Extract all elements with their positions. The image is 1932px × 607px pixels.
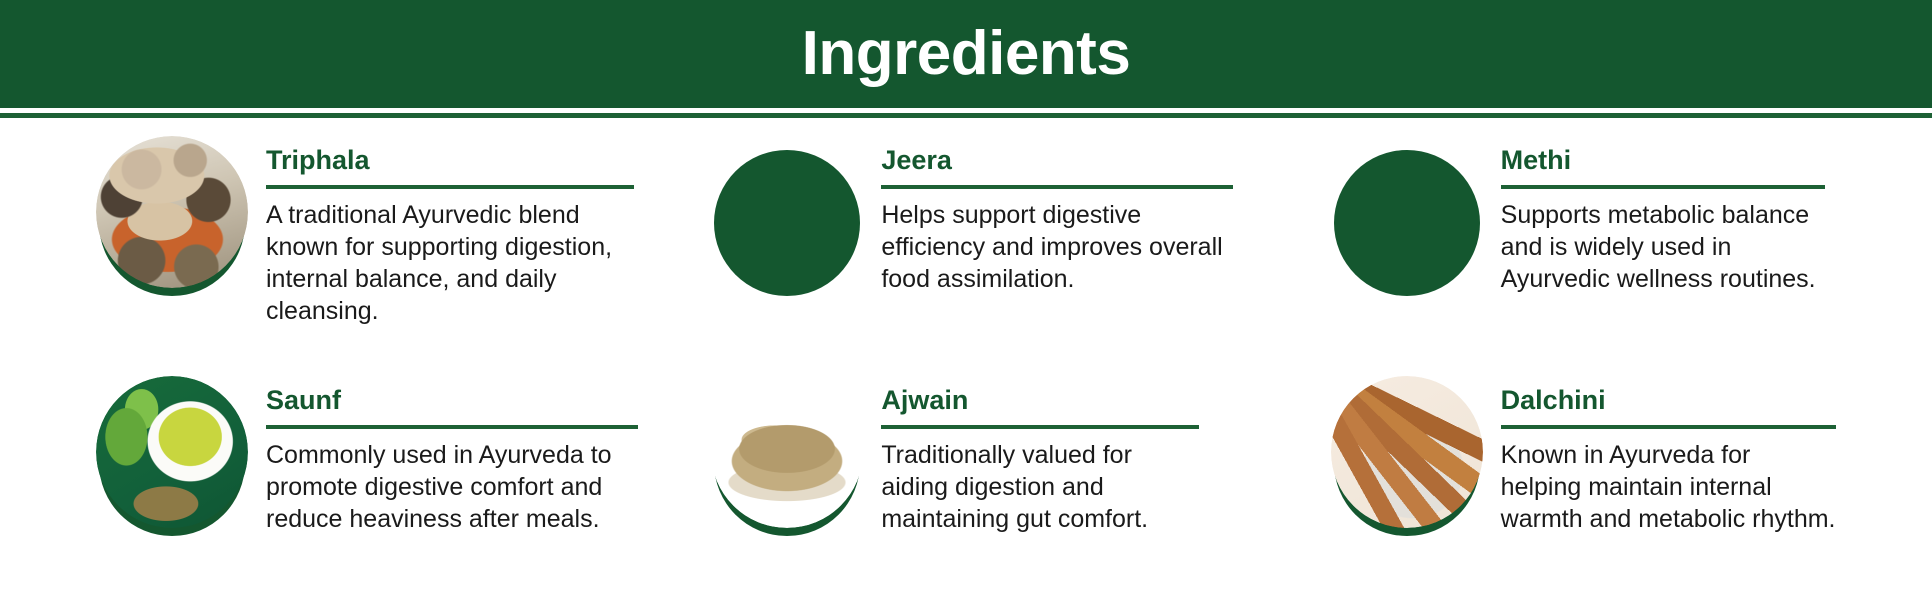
ingredient-name: Saunf xyxy=(266,386,638,416)
ingredient-card-methi: Methi Supports metabolic balance and is … xyxy=(1275,128,1836,358)
thumb-image-frame xyxy=(96,136,248,288)
ingredient-description: A traditional Ayurvedic blend known for … xyxy=(266,199,634,328)
ingredient-text-ajwain: Ajwain Traditionally valued for aiding d… xyxy=(881,368,1199,535)
page-title: Ingredients xyxy=(802,23,1131,85)
ingredient-thumb-methi xyxy=(1331,136,1483,288)
saunf-image xyxy=(96,376,248,528)
ingredient-card-jeera: Jeera Helps support digestive efficiency… xyxy=(685,128,1246,358)
ingredient-name: Methi xyxy=(1501,146,1825,176)
ingredient-text-methi: Methi Supports metabolic balance and is … xyxy=(1501,128,1825,295)
ingredient-thumb-saunf xyxy=(96,376,248,528)
ingredient-thumb-ajwain xyxy=(711,376,863,528)
ingredient-description: Supports metabolic balance and is widely… xyxy=(1501,199,1825,296)
jeera-image xyxy=(711,136,863,288)
thumb-image-frame xyxy=(711,376,863,528)
ingredient-description: Commonly used in Ayurveda to promote dig… xyxy=(266,439,638,536)
ingredient-thumb-triphala xyxy=(96,136,248,288)
page-header: Ingredients xyxy=(0,0,1932,108)
ingredient-text-jeera: Jeera Helps support digestive efficiency… xyxy=(881,128,1233,295)
thumb-image-frame xyxy=(1331,136,1483,288)
title-underline xyxy=(1501,425,1836,429)
title-underline xyxy=(1501,185,1825,189)
ingredient-name: Jeera xyxy=(881,146,1233,176)
thumb-image-frame xyxy=(1331,376,1483,528)
ajwain-image xyxy=(711,376,863,528)
ingredient-description: Helps support digestive efficiency and i… xyxy=(881,199,1233,296)
ingredient-description: Traditionally valued for aiding digestio… xyxy=(881,439,1199,536)
ingredient-text-saunf: Saunf Commonly used in Ayurveda to promo… xyxy=(266,368,638,535)
ingredient-name: Dalchini xyxy=(1501,386,1836,416)
triphala-image xyxy=(96,136,248,288)
ingredient-text-triphala: Triphala A traditional Ayurvedic blend k… xyxy=(266,128,634,328)
ingredient-description: Known in Ayurveda for helping maintain i… xyxy=(1501,439,1836,536)
ingredient-name: Ajwain xyxy=(881,386,1199,416)
ingredient-card-triphala: Triphala A traditional Ayurvedic blend k… xyxy=(96,128,657,358)
ingredients-page: Ingredients Triphala A traditional Ayurv… xyxy=(0,0,1932,607)
header-divider-rule xyxy=(0,113,1932,118)
ingredient-text-dalchini: Dalchini Known in Ayurveda for helping m… xyxy=(1501,368,1836,535)
ingredient-name: Triphala xyxy=(266,146,634,176)
thumb-image-frame xyxy=(711,136,863,288)
dalchini-image xyxy=(1331,376,1483,528)
ingredients-grid: Triphala A traditional Ayurvedic blend k… xyxy=(0,128,1932,598)
title-underline xyxy=(266,185,634,189)
title-underline xyxy=(881,425,1199,429)
thumb-image-frame xyxy=(96,376,248,528)
title-underline xyxy=(881,185,1233,189)
title-underline xyxy=(266,425,638,429)
ingredient-thumb-jeera xyxy=(711,136,863,288)
ingredient-card-ajwain: Ajwain Traditionally valued for aiding d… xyxy=(685,368,1246,598)
ingredient-thumb-dalchini xyxy=(1331,376,1483,528)
ingredient-card-saunf: Saunf Commonly used in Ayurveda to promo… xyxy=(96,368,657,598)
methi-image xyxy=(1331,136,1483,288)
ingredient-card-dalchini: Dalchini Known in Ayurveda for helping m… xyxy=(1275,368,1836,598)
